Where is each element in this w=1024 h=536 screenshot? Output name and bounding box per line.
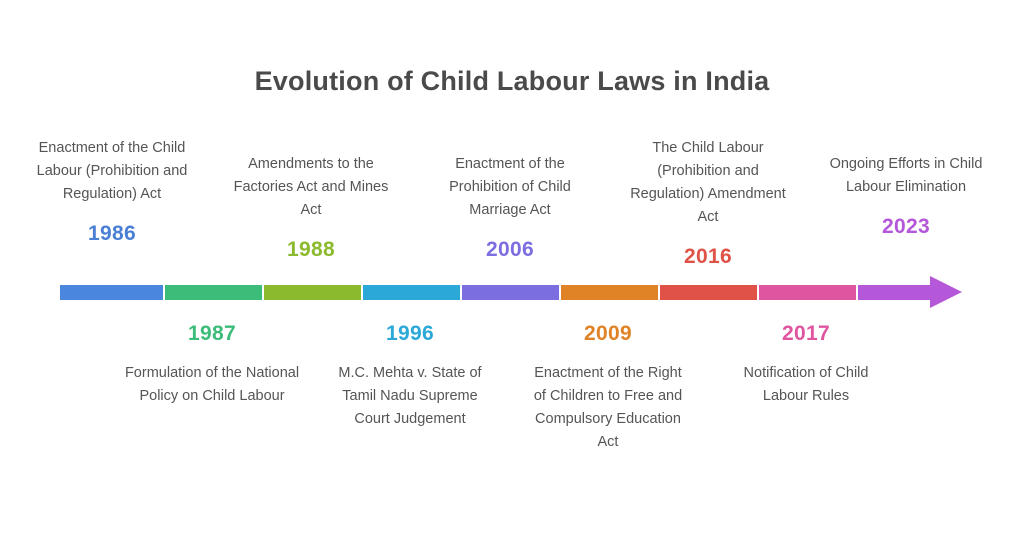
timeline-event-1996: 1996M.C. Mehta v. State of Tamil Nadu Su…: [325, 322, 495, 431]
timeline-event-1987: 1987Formulation of the National Policy o…: [122, 322, 302, 408]
segment-2009: [561, 285, 658, 300]
timeline-event-2006: Enactment of the Prohibition of Child Ma…: [420, 153, 600, 262]
segment-1996: [363, 285, 460, 300]
timeline-event-description: Enactment of the Child Labour (Prohibiti…: [27, 137, 197, 206]
timeline-event-description: Enactment of the Right of Children to Fr…: [528, 362, 688, 454]
timeline-infographic: Evolution of Child Labour Laws in India …: [0, 0, 1024, 536]
timeline-event-year: 2017: [721, 322, 891, 346]
timeline-event-1986: Enactment of the Child Labour (Prohibiti…: [27, 137, 197, 246]
timeline-event-description: Ongoing Efforts in Child Labour Eliminat…: [816, 153, 996, 199]
timeline-event-1988: Amendments to the Factories Act and Mine…: [226, 153, 396, 262]
timeline-event-description: Amendments to the Factories Act and Mine…: [226, 153, 396, 222]
timeline-event-year: 1996: [325, 322, 495, 346]
timeline-event-description: Enactment of the Prohibition of Child Ma…: [420, 153, 600, 222]
segment-1988: [264, 285, 361, 300]
segment-2006: [462, 285, 559, 300]
timeline-event-2017: 2017Notification of Child Labour Rules: [721, 322, 891, 408]
timeline-event-year: 1987: [122, 322, 302, 346]
timeline-event-year: 2009: [528, 322, 688, 346]
timeline-event-year: 1988: [226, 238, 396, 262]
segment-1986: [60, 285, 163, 300]
segment-2023: [858, 285, 934, 300]
segment-1987: [165, 285, 262, 300]
timeline-event-2016: The Child Labour (Prohibition and Regula…: [623, 137, 793, 269]
timeline-event-year: 2006: [420, 238, 600, 262]
timeline-event-description: Notification of Child Labour Rules: [721, 362, 891, 408]
segment-2017: [759, 285, 856, 300]
timeline-event-year: 2016: [623, 245, 793, 269]
page-title: Evolution of Child Labour Laws in India: [0, 66, 1024, 97]
timeline-event-description: Formulation of the National Policy on Ch…: [122, 362, 302, 408]
segment-2016: [660, 285, 757, 300]
timeline-event-description: The Child Labour (Prohibition and Regula…: [623, 137, 793, 229]
timeline-event-2023: Ongoing Efforts in Child Labour Eliminat…: [816, 153, 996, 239]
timeline-event-2009: 2009Enactment of the Right of Children t…: [528, 322, 688, 454]
timeline-arrowhead-icon: [930, 276, 962, 308]
timeline-event-year: 1986: [27, 222, 197, 246]
timeline-event-year: 2023: [816, 215, 996, 239]
timeline-event-description: M.C. Mehta v. State of Tamil Nadu Suprem…: [325, 362, 495, 431]
